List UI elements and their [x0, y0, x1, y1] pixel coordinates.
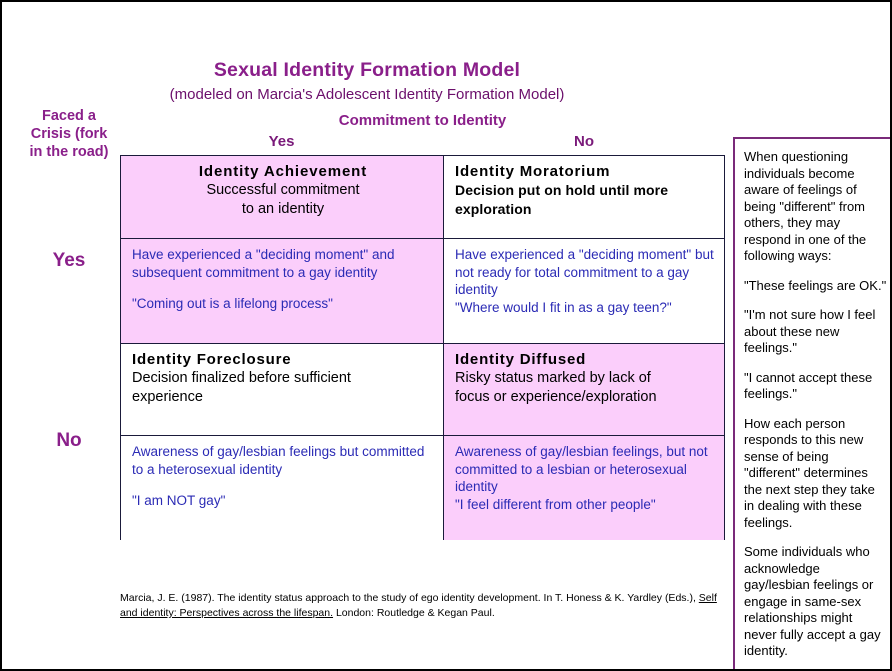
side-note-paragraph: When questioning individuals become awar… [744, 149, 888, 265]
quadrant-title: Identity Foreclosure [132, 351, 434, 368]
page-title: Sexual Identity Formation Model [2, 59, 732, 82]
cell-identity-achievement-examples: Have experienced a "deciding moment" and… [121, 239, 444, 344]
diagram-canvas: Sexual Identity Formation Model (modeled… [0, 0, 892, 671]
column-header-no: No [443, 133, 725, 150]
quadrant-title: Identity Diffused [455, 351, 715, 368]
quadrant-example-2: "Where would I fit in as a gay teen?" [455, 299, 715, 317]
row-header-yes: Yes [26, 250, 112, 272]
row-axis-title: Faced a Crisis (fork in the road) [26, 107, 112, 161]
quadrant-desc-line-1: Successful commitment [132, 181, 434, 200]
quadrant-desc-line-2: to an identity [132, 200, 434, 219]
quadrant-desc-line-1: Decision put on hold until more [455, 181, 715, 200]
quadrant-example-1: Awareness of gay/lesbian feelings, but n… [455, 443, 715, 496]
column-axis-title: Commitment to Identity [120, 112, 725, 129]
cell-identity-foreclosure-title: Identity Foreclosure Decision finalized … [121, 344, 444, 436]
side-note-panel: When questioning individuals become awar… [733, 137, 892, 671]
spacer [132, 281, 434, 295]
column-header-yes: Yes [120, 133, 443, 150]
cell-identity-moratorium-title: Identity Moratorium Decision put on hold… [444, 156, 724, 239]
row-header-no: No [26, 430, 112, 452]
quadrant-desc-line-2: exploration [455, 200, 715, 219]
quadrant-example-2: "Coming out is a lifelong process" [132, 295, 434, 313]
quadrant-example-2: "I feel different from other people" [455, 496, 715, 514]
side-note-paragraph: "I'm not sure how I feel about these new… [744, 307, 888, 357]
quadrant-example-1: Awareness of gay/lesbian feelings but co… [132, 443, 434, 478]
page-subtitle: (modeled on Marcia's Adolescent Identity… [2, 86, 732, 103]
quadrant-desc-line-2: experience [132, 388, 434, 407]
quadrant-title: Identity Achievement [132, 163, 434, 180]
quadrant-example-1: Have experienced a "deciding moment" but… [455, 246, 715, 299]
side-note-paragraph: Some individuals who acknowledge gay/les… [744, 544, 888, 660]
citation-part-2: London: Routledge & Kegan Paul. [333, 607, 495, 619]
quadrant-title: Identity Moratorium [455, 163, 715, 180]
cell-identity-moratorium-examples: Have experienced a "deciding moment" but… [444, 239, 724, 344]
citation: Marcia, J. E. (1987). The identity statu… [120, 591, 720, 621]
cell-identity-achievement-title: Identity Achievement Successful commitme… [121, 156, 444, 239]
citation-part-1: Marcia, J. E. (1987). The identity statu… [120, 592, 699, 604]
quadrant-desc-line-2: focus or experience/exploration [455, 388, 715, 407]
quadrant-example-1: Have experienced a "deciding moment" and… [132, 246, 434, 281]
cell-identity-foreclosure-examples: Awareness of gay/lesbian feelings but co… [121, 436, 444, 540]
spacer [132, 478, 434, 492]
identity-status-matrix: Identity Achievement Successful commitme… [120, 155, 725, 540]
quadrant-example-2: "I am NOT gay" [132, 492, 434, 510]
cell-identity-diffused-title: Identity Diffused Risky status marked by… [444, 344, 724, 436]
side-note-paragraph: "These feelings are OK." [744, 278, 888, 295]
cell-identity-diffused-examples: Awareness of gay/lesbian feelings, but n… [444, 436, 724, 540]
side-note-paragraph: How each person responds to this new sen… [744, 416, 888, 532]
quadrant-desc-line-1: Risky status marked by lack of [455, 369, 715, 388]
side-note-paragraph: "I cannot accept these feelings." [744, 370, 888, 403]
quadrant-desc-line-1: Decision finalized before sufficient [132, 369, 434, 388]
